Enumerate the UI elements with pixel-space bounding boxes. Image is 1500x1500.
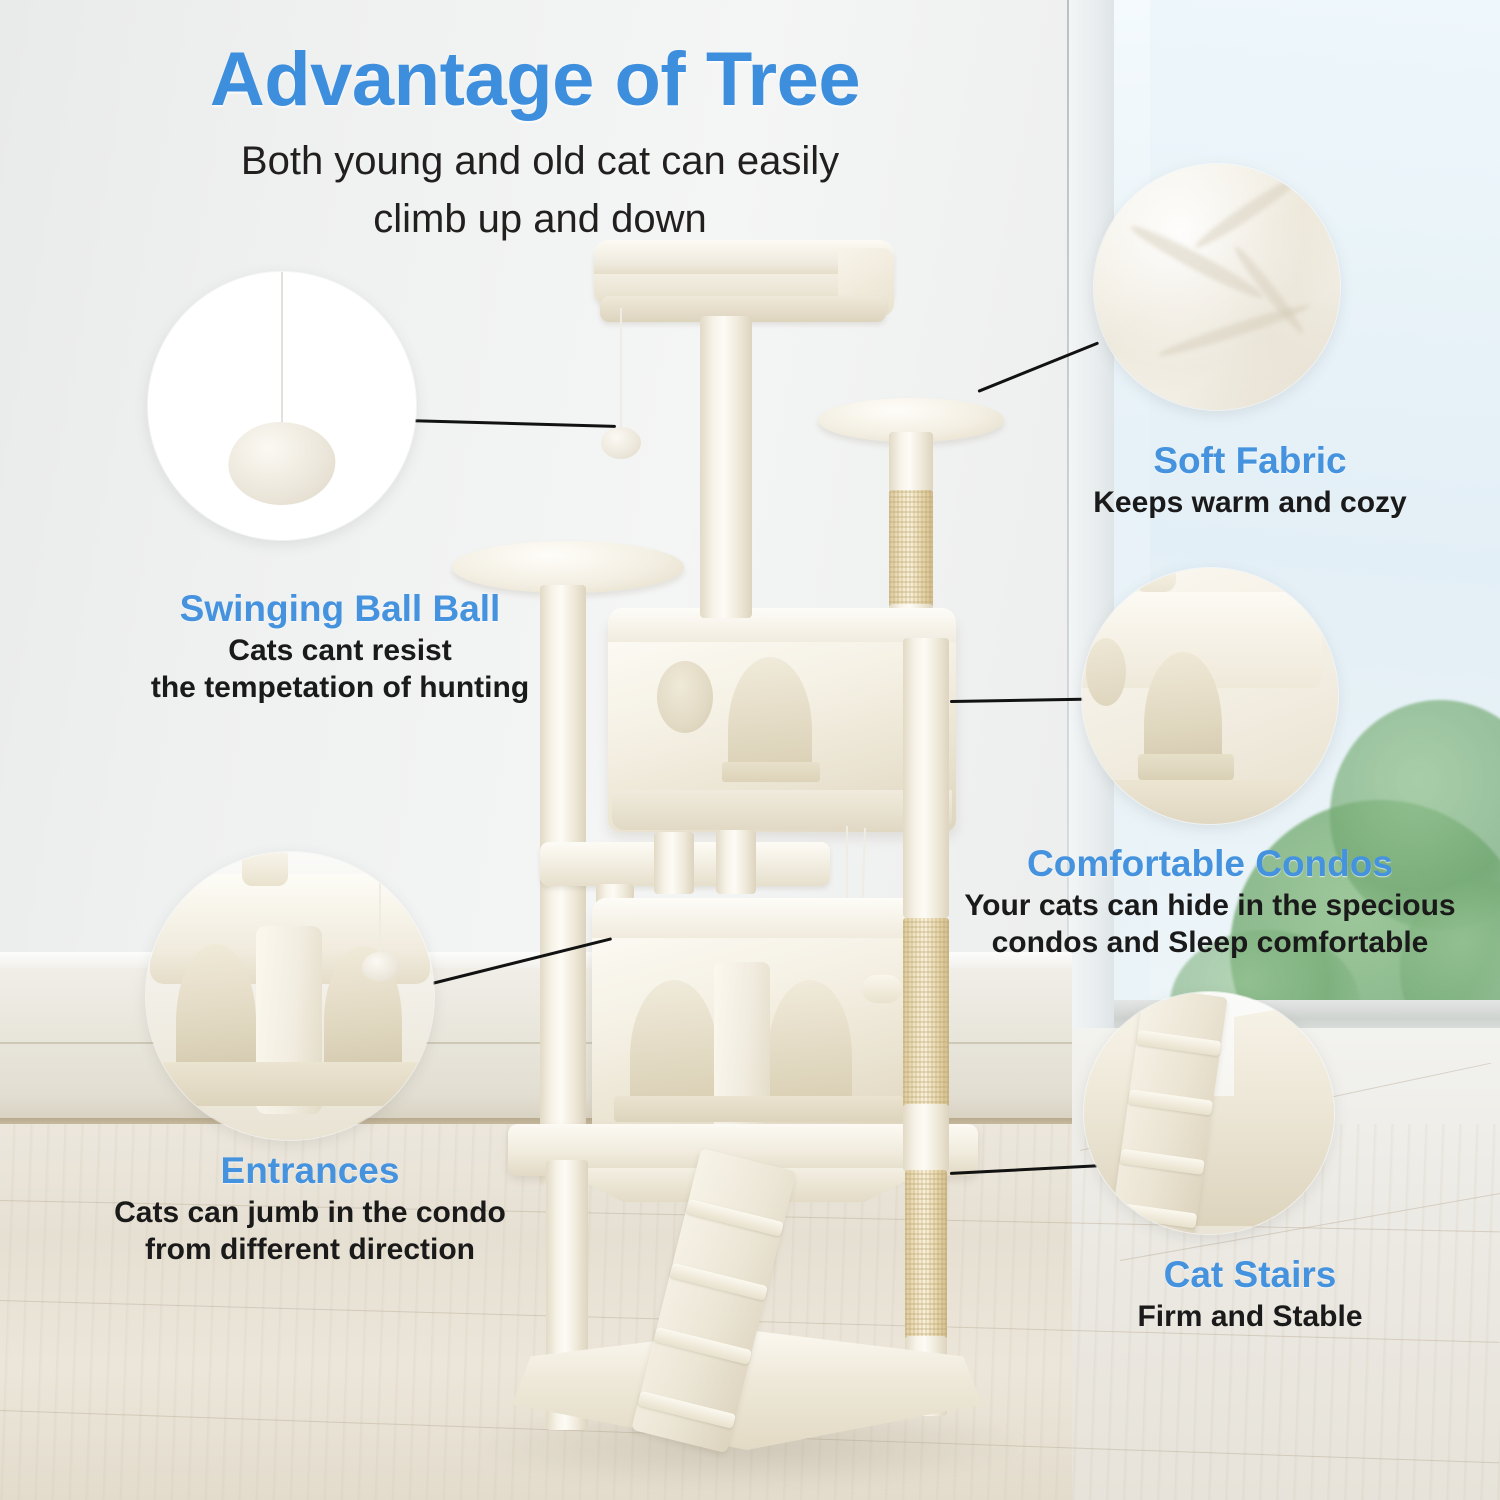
stairs-rung [1128,1089,1213,1116]
infographic-canvas: Swinging Ball Ball Cats cant resist the … [0,0,1500,1500]
callout-desc-line1: Your cats can hide in the specious [940,888,1480,925]
condo-base-lip [1082,780,1338,824]
callout-desc-line2: condos and Sleep comfortable [940,925,1480,962]
entrances-ball-string [379,876,381,956]
subtitle-line-1: Both young and old cat can easily [110,132,970,190]
page-subtitle: Both young and old cat can easily climb … [110,132,970,248]
callout-desc-line1: Cats can jumb in the condo [30,1195,590,1232]
upper-right-post-top [889,432,933,494]
sisal-scratching-post-base [905,1170,947,1340]
callout-desc-line1: Cats cant resist [40,633,640,670]
upper-condo-top-post-stub [700,592,752,618]
callout-desc-line2: the tempetation of hunting [40,670,640,707]
callout-label-soft-fabric: Soft Fabric Keeps warm and cozy [1040,440,1460,522]
mid-shelf-post-b [716,830,756,894]
stairs-rung [1112,1202,1197,1229]
callout-label-comfortable-condos: Comfortable Condos Your cats can hide in… [940,843,1480,962]
plush-ball-icon [228,422,335,505]
sisal-post-upper [889,490,933,608]
top-ball-string [620,308,622,433]
callout-heading: Comfortable Condos [940,843,1480,884]
callout-label-entrances: Entrances Cats can jumb in the condo fro… [30,1150,590,1269]
main-post-right-lower [903,1104,949,1172]
callout-label-cat-stairs: Cat Stairs Firm and Stable [1040,1254,1460,1336]
top-hanging-ball [601,427,641,459]
upper-condo-roof [608,608,956,642]
upper-condo-floor [722,762,820,782]
condo-oval-window [1086,638,1126,706]
entrances-inner-floor [156,1062,426,1106]
top-perch-post [700,316,752,606]
callout-heading: Swinging Ball Ball [40,588,640,629]
callout-heading: Entrances [30,1150,590,1191]
callout-image-comfortable-condos [1082,568,1338,824]
callout-desc-line1: Keeps warm and cozy [1040,485,1460,522]
ramp-rung [653,1327,752,1365]
ramp-rung [685,1199,784,1237]
stairs-rung [1119,1149,1204,1176]
fabric-fiber-icon [1191,169,1307,253]
callout-label-swinging-ball: Swinging Ball Ball Cats cant resist the … [40,588,640,707]
callout-desc-line1: Firm and Stable [1040,1299,1460,1336]
condo-inner-floor [1138,754,1234,780]
entrances-post-stub [242,852,288,886]
callout-heading: Cat Stairs [1040,1254,1460,1295]
upper-condo-oval-window [657,661,713,733]
lower-condo-floor [614,1096,904,1122]
lower-condo-roof [592,898,922,938]
callout-image-cat-stairs [1084,992,1334,1234]
subtitle-line-2: climb up and down [110,190,970,248]
entrances-hanging-ball [362,952,400,982]
ramp-rung [669,1263,768,1301]
lower-condo-side-knob [862,975,902,1003]
stairs-rung [1136,1030,1221,1057]
upper-condo-front-lip [612,790,952,830]
page-title: Advantage of Tree [0,36,1070,123]
callout-image-swinging-ball [148,272,416,540]
ramp-rung [637,1391,736,1429]
callout-image-entrances [146,852,434,1140]
callout-desc-line2: from different direction [30,1232,590,1269]
callout-heading: Soft Fabric [1040,440,1460,481]
mid-shelf-post-a [654,832,694,894]
ball-string [281,272,283,427]
condo-post-stub [1134,568,1176,592]
callout-image-soft-fabric [1094,164,1340,410]
